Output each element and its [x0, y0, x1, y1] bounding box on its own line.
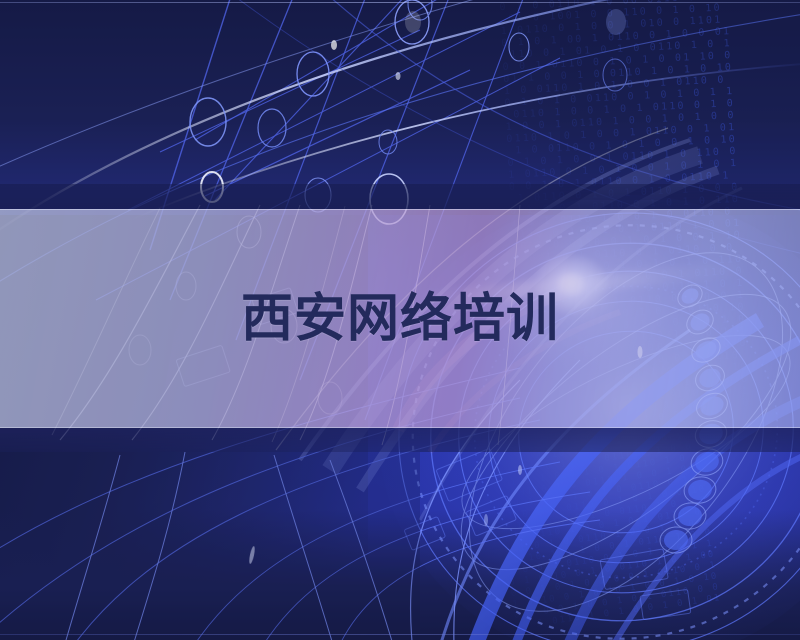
banner-graphic: 0 1 0 0110 1 0 00 0110 01 0 01 0 1001 0 …	[0, 0, 800, 640]
title-container: 西安网络培训	[0, 209, 800, 428]
band-dark-top	[0, 184, 800, 209]
top-hairline	[0, 2, 800, 3]
band-dark-bottom	[0, 428, 800, 452]
bottom-hairline	[0, 634, 800, 635]
banner-title: 西安网络培训	[241, 293, 559, 345]
